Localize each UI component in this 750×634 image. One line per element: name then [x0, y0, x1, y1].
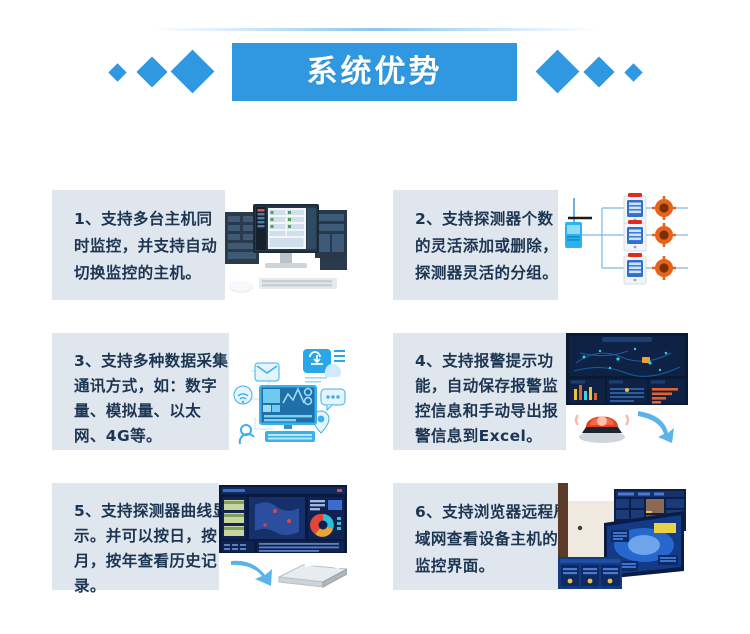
feature-card-3-line-2: 通讯方式，如：数字	[74, 374, 252, 399]
feature-card-2-image	[558, 190, 688, 300]
feature-card-3-line-3: 量、模拟量、以太	[74, 399, 252, 424]
feature-card-2: 2、支持探测器个数 的灵活添加或删除， 探测器灵活的分组。	[393, 190, 688, 300]
feature-card-3-text: 3、支持多种数据采集 通讯方式，如：数字 量、模拟量、以太 网、4G等。	[74, 349, 252, 449]
feature-card-1: 1、支持多台主机同 时监控，并支持自动 切换监控的主机。	[52, 190, 347, 300]
feature-card-4: 4、支持报警提示功 能，自动保存报警监 控信息和手动导出报 警信息到Excel。	[393, 333, 688, 450]
feature-card-1-image	[225, 190, 347, 300]
feature-card-3-line-1: 3、支持多种数据采集	[74, 349, 252, 374]
feature-card-6: 6、支持浏览器远程局 域网查看设备主机的 监控界面。	[393, 483, 688, 590]
feature-card-3: 3、支持多种数据采集 通讯方式，如：数字 量、模拟量、以太 网、4G等。	[52, 333, 347, 450]
feature-card-3-image	[229, 333, 347, 450]
feature-card-6-image	[558, 483, 688, 590]
feature-card-grid: 1、支持多台主机同 时监控，并支持自动 切换监控的主机。	[0, 0, 750, 634]
feature-card-5: 5、支持探测器曲线显 示。并可以按日，按 月，按年查看历史记 录。	[52, 483, 347, 590]
feature-card-4-image	[566, 333, 688, 450]
feature-card-5-image	[219, 483, 347, 590]
feature-card-3-line-4: 网、4G等。	[74, 424, 252, 449]
